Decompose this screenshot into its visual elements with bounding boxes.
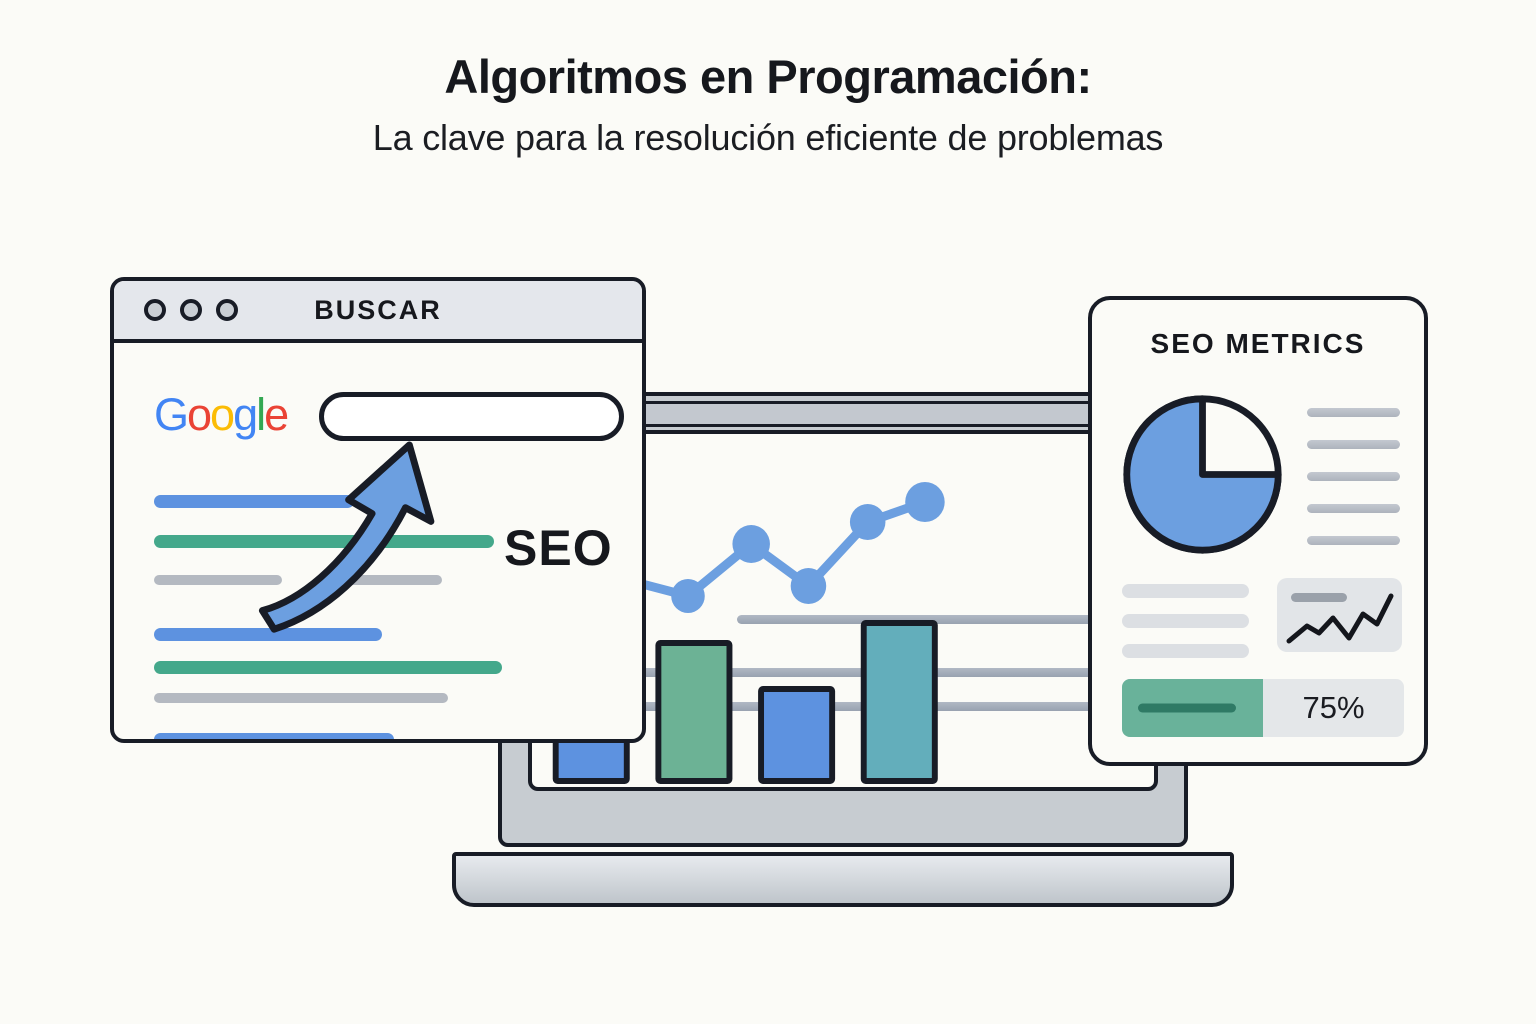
browser-window: BUSCAR Google SEO bbox=[110, 277, 646, 743]
google-logo: Google bbox=[154, 392, 287, 437]
detail-line bbox=[1122, 644, 1249, 658]
progress-inner-bar bbox=[1138, 704, 1236, 713]
google-logo-letter: g bbox=[233, 389, 256, 440]
sparkline-chart bbox=[1277, 578, 1402, 652]
google-logo-letter: o bbox=[210, 389, 233, 440]
google-logo-letter: o bbox=[187, 389, 210, 440]
result-title-line bbox=[154, 495, 354, 508]
result-desc-line bbox=[154, 661, 502, 674]
page-title: Algoritmos en Programación: bbox=[0, 50, 1536, 104]
google-logo-letter: G bbox=[154, 389, 187, 440]
browser-titlebar: BUSCAR bbox=[114, 281, 642, 343]
page-heading: Algoritmos en Programación: La clave par… bbox=[0, 50, 1536, 159]
seo-callout-label: SEO bbox=[504, 519, 613, 577]
progress-fill bbox=[1122, 679, 1263, 737]
result-title-line bbox=[154, 628, 382, 641]
stat-line bbox=[1307, 440, 1400, 449]
seo-pie-chart bbox=[1120, 392, 1285, 557]
result-url-line bbox=[342, 575, 442, 585]
bar-2 bbox=[658, 643, 729, 781]
stat-line bbox=[1307, 536, 1400, 545]
browser-window-title: BUSCAR bbox=[114, 295, 642, 326]
result-url-line bbox=[154, 575, 282, 585]
browser-content: Google SEO bbox=[114, 343, 642, 739]
sparkline-card bbox=[1277, 578, 1402, 652]
score-progress-bar: 75% bbox=[1122, 679, 1404, 737]
bar-4 bbox=[864, 623, 935, 781]
stat-line bbox=[1307, 472, 1400, 481]
seo-metrics-title: SEO METRICS bbox=[1092, 328, 1424, 360]
detail-line bbox=[1122, 614, 1249, 628]
google-logo-letter: l bbox=[256, 389, 264, 440]
detail-line bbox=[1122, 584, 1249, 598]
laptop-base bbox=[452, 852, 1234, 907]
search-input[interactable] bbox=[319, 392, 624, 441]
stat-line bbox=[1307, 504, 1400, 513]
google-logo-letter: e bbox=[264, 389, 287, 440]
illustration-canvas: Algoritmos en Programación: La clave par… bbox=[0, 0, 1536, 1024]
bar-3 bbox=[761, 689, 832, 781]
stat-line bbox=[1307, 408, 1400, 417]
result-title-line bbox=[154, 733, 394, 743]
result-desc-line bbox=[154, 535, 494, 548]
page-subtitle: La clave para la resolución eficiente de… bbox=[0, 116, 1536, 159]
result-url-line bbox=[154, 693, 448, 703]
progress-percent-label: 75% bbox=[1263, 679, 1404, 737]
seo-metrics-card: SEO METRICS 75% bbox=[1088, 296, 1428, 766]
